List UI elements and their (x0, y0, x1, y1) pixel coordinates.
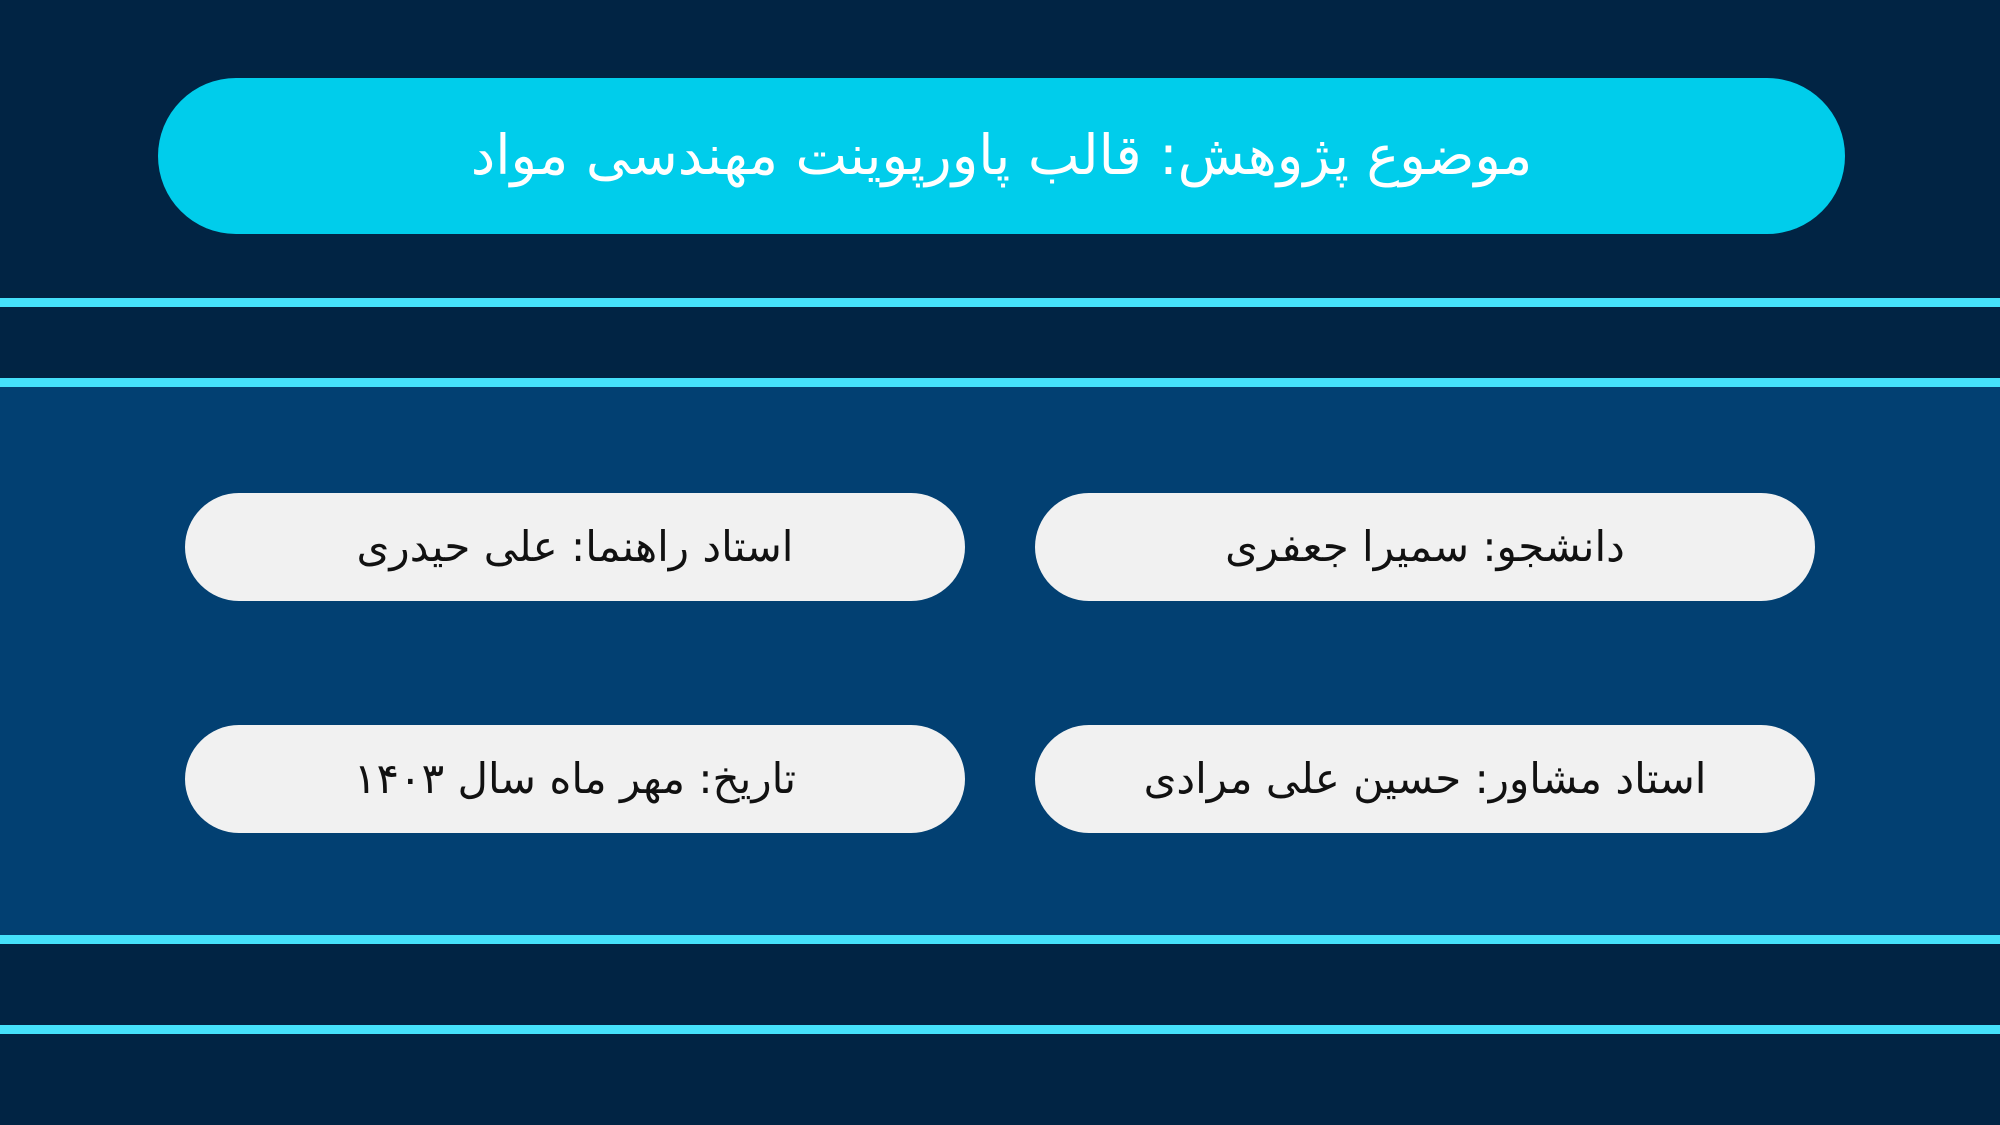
mid-spacer-band (0, 307, 2000, 378)
student-card[interactable]: دانشجو: سمیرا جعفری (1035, 493, 1815, 601)
slide-title-pill: موضوع پژوهش: قالب پاورپوینت مهندسی مواد (158, 78, 1845, 234)
accent-rule-4 (0, 1025, 2000, 1034)
info-card-grid: دانشجو: سمیرا جعفری استاد راهنما: علی حی… (0, 387, 2000, 935)
card-cell-student: دانشجو: سمیرا جعفری (1000, 493, 1850, 601)
accent-rule-1 (0, 298, 2000, 307)
date-card-label: تاریخ: مهر ماه سال ۱۴۰۳ (354, 756, 796, 802)
lower-spacer-band (0, 944, 2000, 1025)
bottom-background-band (0, 1034, 2000, 1125)
card-cell-advisor: استاد مشاور: حسین علی مرادی (1000, 725, 1850, 833)
presentation-slide: موضوع پژوهش: قالب پاورپوینت مهندسی مواد … (0, 0, 2000, 1125)
advisor-card-label: استاد مشاور: حسین علی مرادی (1144, 756, 1707, 802)
slide-title-text: موضوع پژوهش: قالب پاورپوینت مهندسی مواد (471, 124, 1533, 187)
supervisor-card[interactable]: استاد راهنما: علی حیدری (185, 493, 965, 601)
card-cell-supervisor: استاد راهنما: علی حیدری (150, 493, 1000, 601)
date-card[interactable]: تاریخ: مهر ماه سال ۱۴۰۳ (185, 725, 965, 833)
advisor-card[interactable]: استاد مشاور: حسین علی مرادی (1035, 725, 1815, 833)
accent-rule-3 (0, 935, 2000, 944)
card-cell-date: تاریخ: مهر ماه سال ۱۴۰۳ (150, 725, 1000, 833)
supervisor-card-label: استاد راهنما: علی حیدری (357, 524, 794, 570)
accent-rule-2 (0, 378, 2000, 387)
student-card-label: دانشجو: سمیرا جعفری (1225, 524, 1625, 570)
